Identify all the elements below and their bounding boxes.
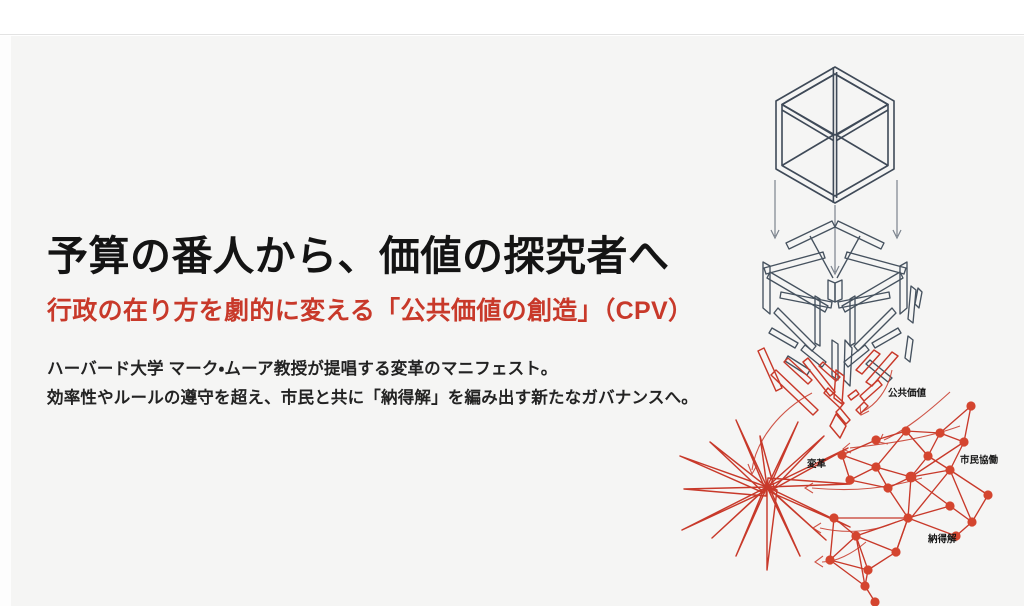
slide-root: 予算の番人から、価値の探究者へ 行政の在り方を劇的に変える「公共価値の創造」（C…	[0, 0, 1024, 606]
page-subtitle: 行政の在り方を劇的に変える「公共価値の創造」（CPV）	[47, 296, 707, 327]
label-consensus-answer: 納得解	[927, 533, 957, 545]
network-links	[830, 406, 988, 602]
label-public-value: 公共価値	[888, 387, 927, 399]
label-transformation: 変革	[806, 458, 827, 470]
emergent-shards-red	[758, 348, 898, 438]
body-line-2: 効率性やルールの遵守を超え、市民と共に「納得解」を編み出す新たなガバナンスへ。	[47, 384, 707, 413]
label-citizen-collaboration: 市民協働	[960, 454, 999, 466]
body-line-1: ハーバード大学 マーク・ムーア教授が提唱する変革のマニフェスト。	[47, 355, 707, 384]
page-title: 予算の番人から、価値の探究者へ	[47, 232, 707, 281]
left-edge-gutter	[0, 36, 11, 606]
compass-star-icon	[680, 420, 850, 570]
top-white-band	[0, 0, 1024, 35]
wireframe-cube-icon	[776, 67, 894, 203]
text-block: 予算の番人から、価値の探究者へ 行政の在り方を劇的に変える「公共価値の創造」（C…	[47, 232, 707, 413]
cube-shards-slate	[763, 221, 922, 386]
concept-illustration: 公共価値 市民協働 納得解 変革	[660, 40, 1024, 606]
body-paragraph: ハーバード大学 マーク・ムーア教授が提唱する変革のマニフェスト。 効率性やルール…	[47, 355, 707, 413]
